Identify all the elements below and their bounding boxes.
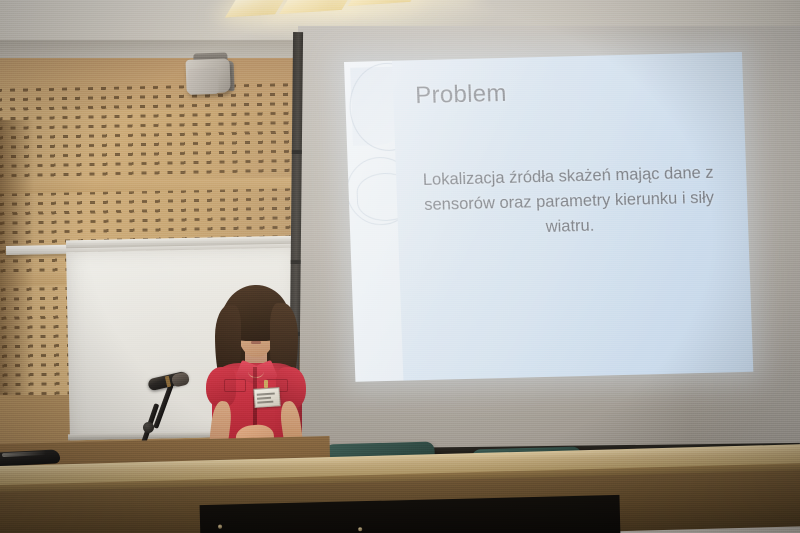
speaker-grille-icon: [188, 68, 219, 95]
microphone-joint: [143, 422, 154, 433]
slide-title: Problem: [415, 80, 507, 110]
presenter-mouth: [251, 341, 261, 344]
slide-body-text: Lokalizacja źródła skażeń mając dane z s…: [408, 160, 731, 243]
presenter-shirt-pocket: [224, 379, 246, 392]
lecture-hall-photo: Problem Lokalizacja źródła skażeń mając …: [0, 0, 800, 533]
slide-deco-arc-icon: [356, 172, 403, 221]
badge-clip-icon: [264, 380, 268, 388]
projection-screen[interactable]: Problem Lokalizacja źródła skażeń mając …: [344, 52, 753, 382]
name-badge: [253, 387, 280, 408]
speaker-body: [185, 58, 230, 94]
slide-surface: Problem Lokalizacja źródła skażeń mając …: [344, 52, 753, 382]
slide-sidebar-graphic: [344, 61, 403, 382]
wall-speaker: [185, 52, 238, 96]
